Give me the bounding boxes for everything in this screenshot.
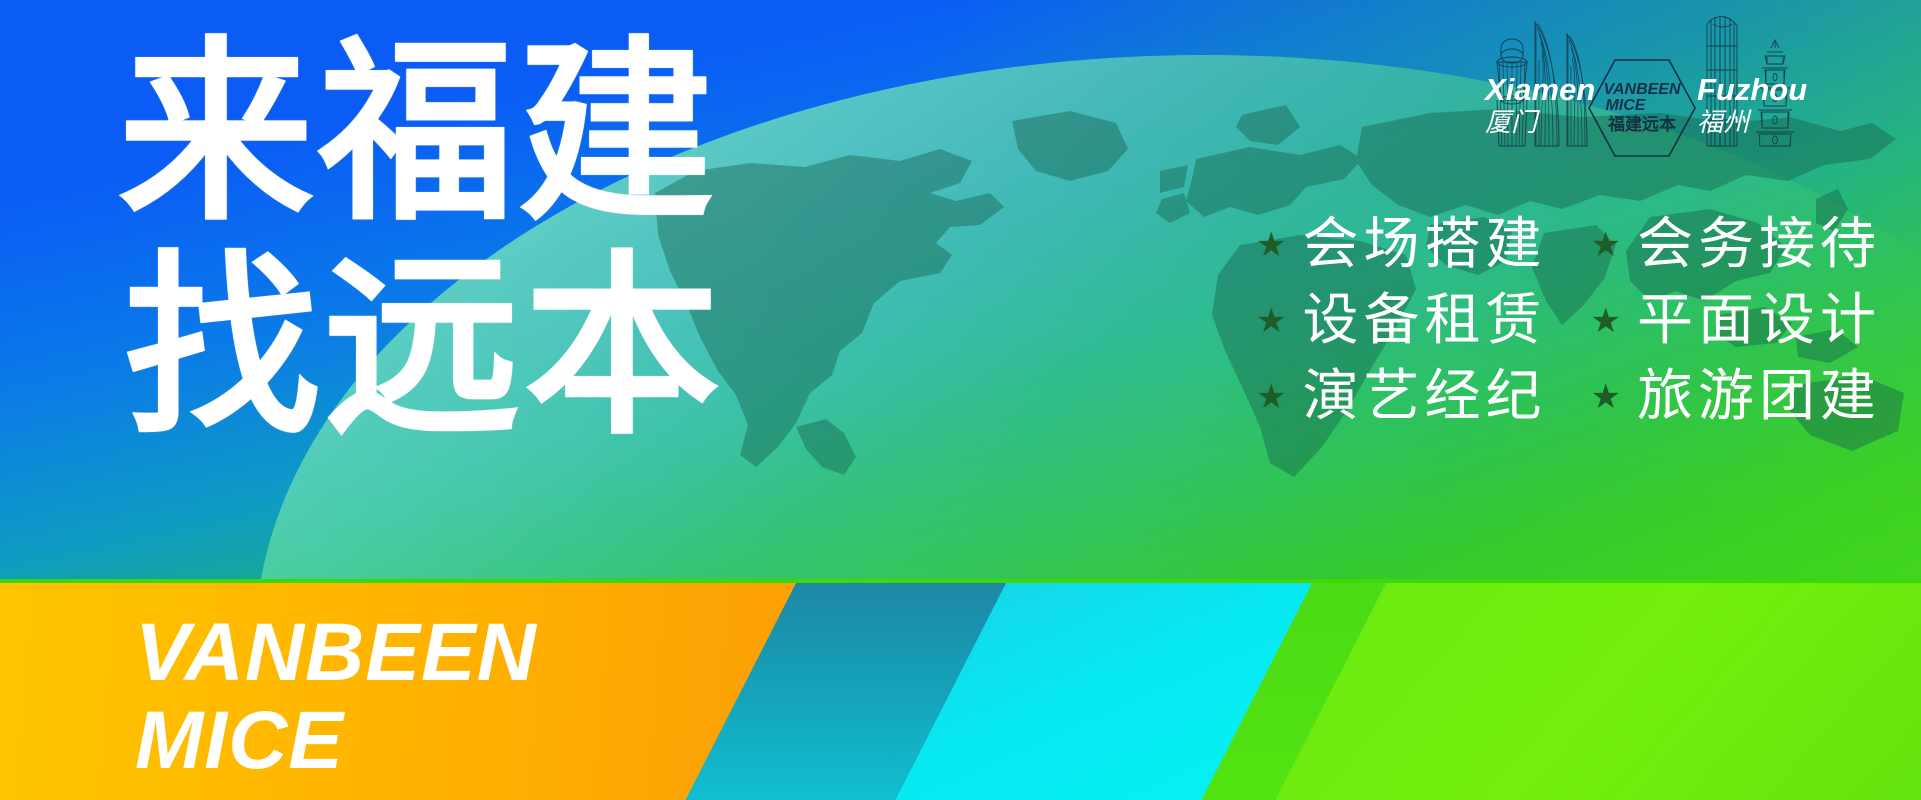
star-icon: ★ [1591, 304, 1621, 338]
wordmark-line-2: MICE [135, 701, 537, 781]
service-item[interactable]: ★ 设备租赁 [1256, 288, 1546, 354]
headline: 来福建 找远本 [118, 38, 724, 444]
footer-wordmark: VANBEEN MICE [135, 613, 537, 782]
hex-logo-line1: VANBEEN [1603, 82, 1680, 98]
footer-bar: VANBEEN MICE [0, 583, 1921, 800]
hex-logo-cn: 福建远本 [1603, 117, 1680, 134]
hex-logo-line2: MICE [1605, 98, 1680, 114]
service-item[interactable]: ★ 演艺经纪 [1256, 364, 1546, 430]
service-label: 设备租赁 [1303, 288, 1547, 354]
star-icon: ★ [1591, 228, 1621, 262]
service-item[interactable]: ★ 平面设计 [1591, 288, 1881, 354]
star-icon: ★ [1256, 304, 1286, 338]
service-label: 会场搭建 [1303, 212, 1547, 278]
promo-banner: 来福建 找远本 ★ 会场搭建 ★ 会务接待 ★ 设备租赁 ★ 平面设计 ★ 演艺… [0, 0, 1921, 800]
service-label: 会务接待 [1637, 212, 1881, 278]
city-label-fuzhou: Fuzhou 福州 [1697, 74, 1807, 136]
vanbeen-hex-logo[interactable]: VANBEEN MICE 福建远本 [1587, 56, 1697, 160]
star-icon: ★ [1591, 380, 1621, 414]
city-name-en: Fuzhou [1697, 74, 1807, 105]
service-item[interactable]: ★ 会场搭建 [1256, 212, 1546, 278]
service-label: 平面设计 [1637, 288, 1881, 354]
services-list: ★ 会场搭建 ★ 会务接待 ★ 设备租赁 ★ 平面设计 ★ 演艺经纪 ★ 旅游团… [1256, 212, 1881, 430]
star-icon: ★ [1256, 380, 1286, 414]
city-name-en: Xiamen [1485, 74, 1595, 105]
service-item[interactable]: ★ 会务接待 [1591, 212, 1881, 278]
service-item[interactable]: ★ 旅游团建 [1591, 364, 1881, 430]
service-label: 旅游团建 [1637, 364, 1881, 430]
service-label: 演艺经纪 [1303, 364, 1547, 430]
headline-line-2: 找远本 [124, 252, 724, 444]
headline-line-1: 来福建 [118, 38, 724, 230]
star-icon: ★ [1256, 228, 1286, 262]
city-label-xiamen: Xiamen 厦门 [1485, 74, 1595, 136]
wordmark-line-1: VANBEEN [135, 613, 537, 693]
hex-logo-text: VANBEEN MICE 福建远本 [1603, 82, 1680, 134]
city-landmark-cluster: Xiamen 厦门 Fuzhou 福州 VANBEEN MICE 福建远本 [1479, 0, 1899, 180]
footer-seam [0, 579, 1921, 583]
city-name-cn: 福州 [1697, 110, 1807, 136]
city-name-cn: 厦门 [1485, 110, 1595, 136]
